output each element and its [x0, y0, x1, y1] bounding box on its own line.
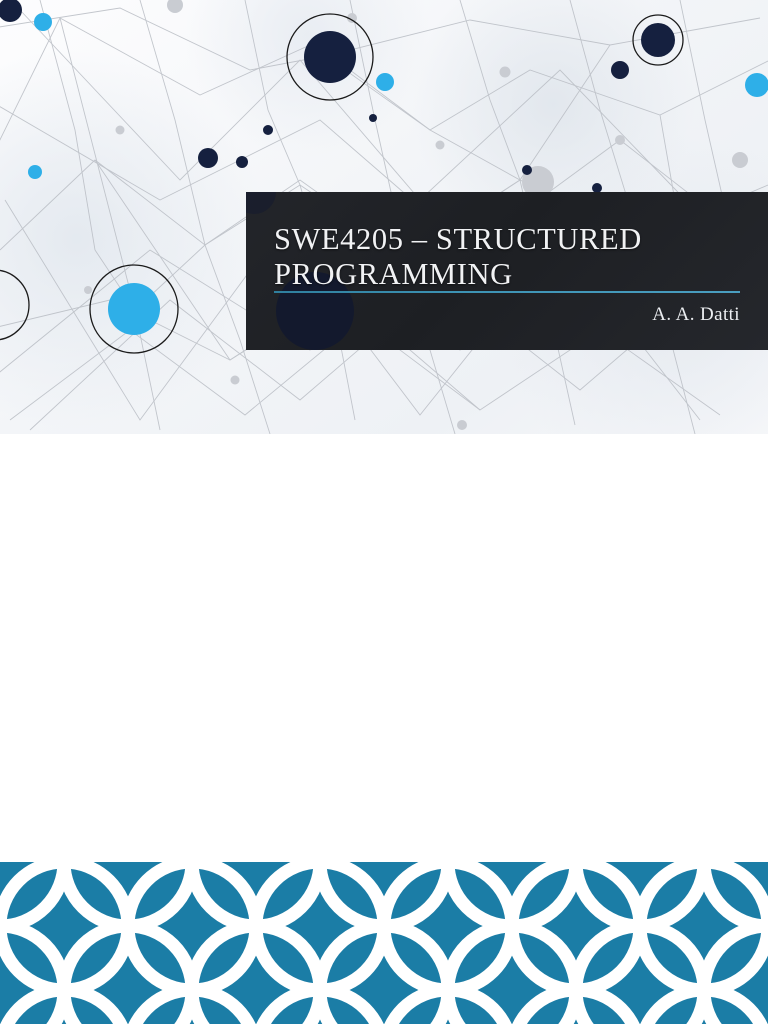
interlocking-circles-pattern-graphic [0, 862, 768, 1024]
slide-pattern [0, 862, 768, 1024]
slide-deck-page: SWE4205 – STRUCTURED PROGRAMMING A. A. D… [0, 0, 768, 1024]
slide-course-outline: COURSE OUTLINE 1.Introduction to Structu… [0, 434, 768, 862]
author-name: A. A. Datti [652, 304, 740, 326]
page-title: SWE4205 – STRUCTURED PROGRAMMING [274, 222, 740, 292]
title-divider-rule [274, 291, 740, 293]
slide-title: SWE4205 – STRUCTURED PROGRAMMING A. A. D… [0, 0, 768, 434]
title-block: SWE4205 – STRUCTURED PROGRAMMING A. A. D… [246, 192, 768, 350]
